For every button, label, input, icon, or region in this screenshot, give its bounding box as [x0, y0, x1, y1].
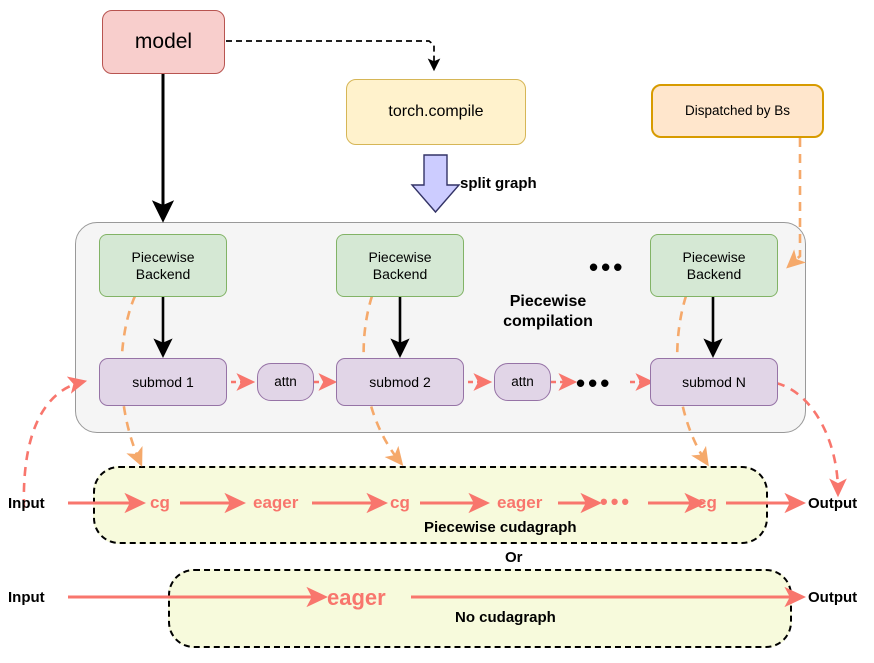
nocudagraph-step-eager: eager — [327, 585, 386, 611]
piecewise-backend-label-1b: Backend — [136, 266, 190, 283]
piecewise-cudagraph-panel-label: Piecewise cudagraph — [424, 519, 577, 536]
output-label-nocudagraph: Output — [808, 589, 857, 606]
model-box[interactable]: model — [102, 10, 225, 74]
submod-box-2[interactable]: submod 2 — [336, 358, 464, 406]
attn-box-2[interactable]: attn — [494, 363, 551, 401]
piecewise-compilation-line1: Piecewise — [483, 292, 613, 312]
input-label-nocudagraph: Input — [8, 589, 45, 606]
no-cudagraph-panel-label: No cudagraph — [455, 609, 556, 626]
submod-label-n: submod N — [682, 374, 746, 391]
backend-ellipsis: ••• — [589, 254, 625, 280]
attn-label-1: attn — [274, 374, 297, 390]
piecewise-backend-label-2a: Piecewise — [368, 249, 431, 266]
cudagraph-step-cg-1: cg — [150, 493, 170, 513]
cudagraph-step-cg-2: cg — [390, 493, 410, 513]
piecewise-compilation-label: Piecewise compilation — [483, 292, 613, 332]
output-label-piecewise: Output — [808, 495, 857, 512]
split-graph-label: split graph — [460, 175, 537, 192]
dispatched-by-bs-label: Dispatched by Bs — [685, 103, 790, 119]
piecewise-backend-label-1a: Piecewise — [131, 249, 194, 266]
piecewise-backend-box-1[interactable]: Piecewise Backend — [99, 234, 227, 297]
torch-compile-box[interactable]: torch.compile — [346, 79, 526, 145]
submod-label-2: submod 2 — [369, 374, 430, 391]
edge-input-to-submod1 — [24, 382, 82, 508]
piecewise-backend-label-2b: Backend — [373, 266, 427, 283]
submod-ellipsis: ••• — [576, 370, 612, 396]
diagram-canvas: model torch.compile Dispatched by Bs spl… — [0, 0, 874, 663]
submod-box-1[interactable]: submod 1 — [99, 358, 227, 406]
edge-model-to-torchcompile — [226, 41, 434, 68]
piecewise-backend-box-n[interactable]: Piecewise Backend — [650, 234, 778, 297]
submod-box-n[interactable]: submod N — [650, 358, 778, 406]
cudagraph-step-ellipsis: ••• — [600, 491, 632, 513]
attn-box-1[interactable]: attn — [257, 363, 314, 401]
piecewise-compilation-line2: compilation — [483, 312, 613, 332]
piecewise-backend-label-nb: Backend — [687, 266, 741, 283]
dispatched-by-bs-box[interactable]: Dispatched by Bs — [651, 84, 824, 138]
torch-compile-label: torch.compile — [388, 103, 483, 122]
cudagraph-step-eager-2: eager — [497, 493, 542, 513]
cudagraph-step-cg-3: cg — [697, 493, 717, 513]
cudagraph-step-eager-1: eager — [253, 493, 298, 513]
input-label-piecewise: Input — [8, 495, 45, 512]
attn-label-2: attn — [511, 374, 534, 390]
piecewise-backend-label-na: Piecewise — [682, 249, 745, 266]
submod-label-1: submod 1 — [132, 374, 193, 391]
or-label: Or — [505, 549, 523, 566]
piecewise-backend-box-2[interactable]: Piecewise Backend — [336, 234, 464, 297]
split-graph-arrow — [412, 155, 459, 212]
model-label: model — [135, 30, 192, 55]
